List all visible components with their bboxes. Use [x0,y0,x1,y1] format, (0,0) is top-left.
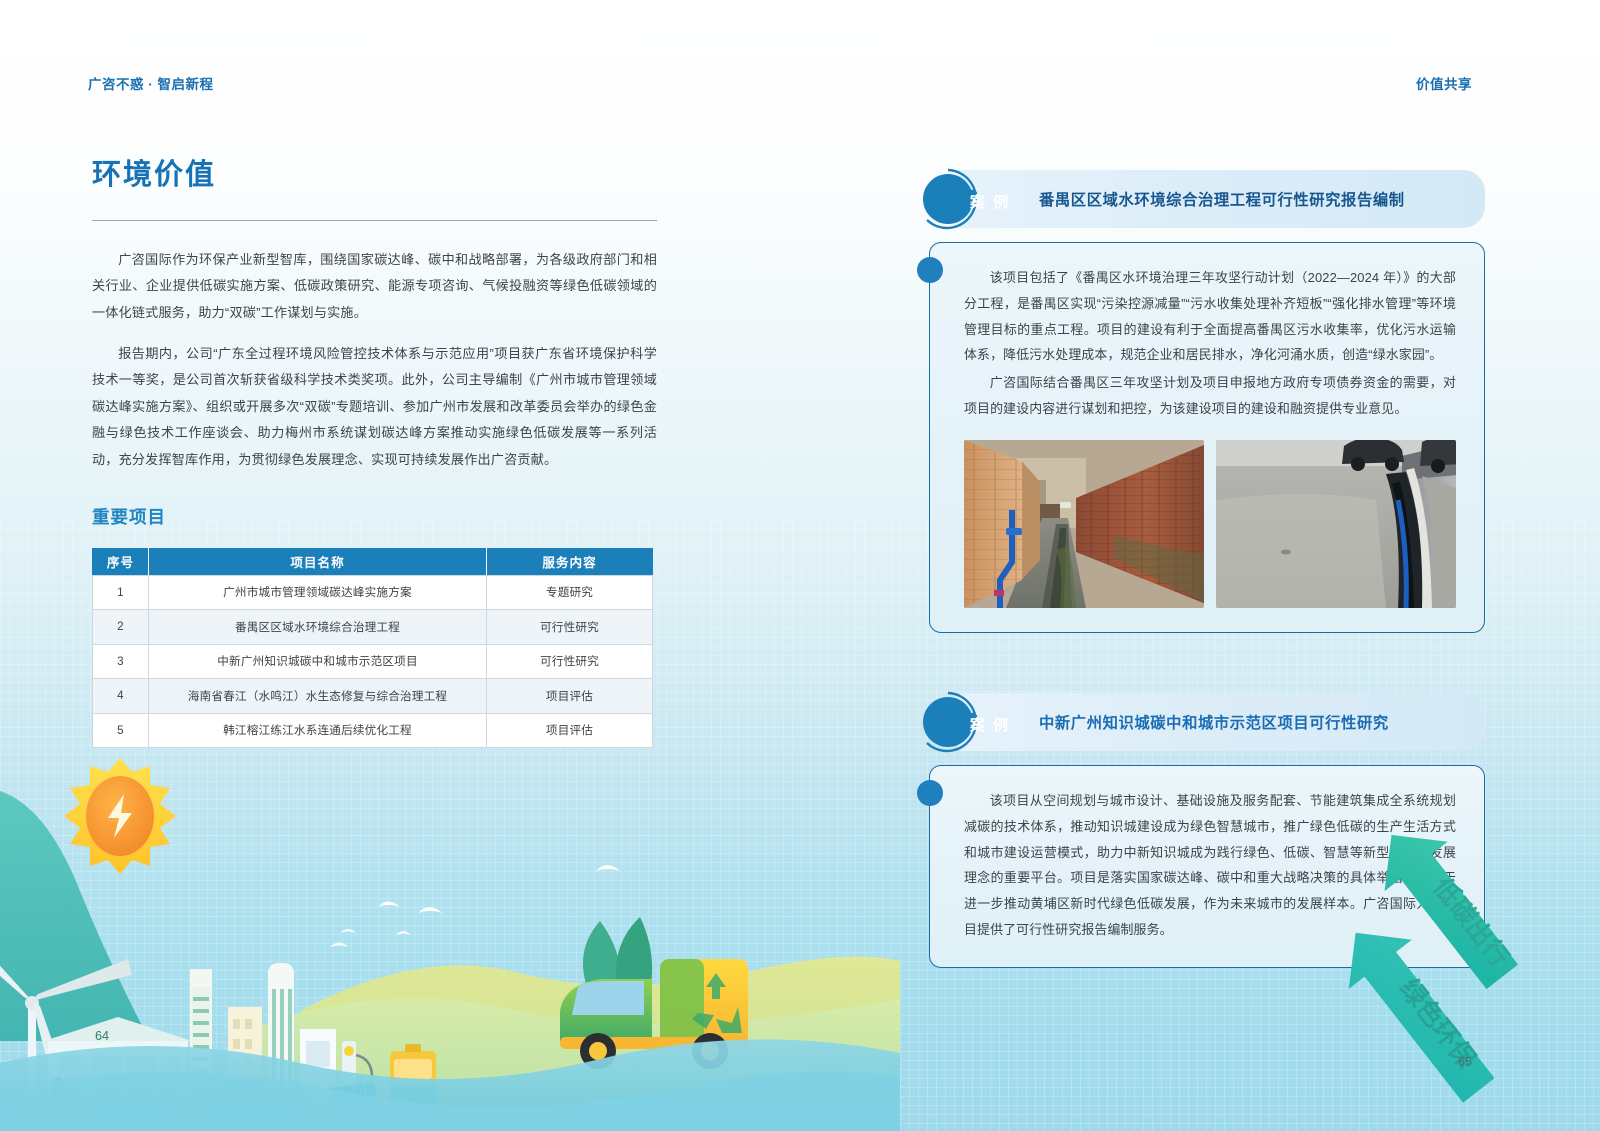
right-column: 案 例 番禺区区域水环境综合治理工程可行性研究报告编制 该项目包括了《番禺区水环… [915,170,1485,968]
case-2-paragraph-1: 该项目从空间规划与城市设计、基础设施及服务配套、节能建筑集成全系统规划减碳的技术… [964,788,1456,943]
case-study-1: 案 例 番禺区区域水环境综合治理工程可行性研究报告编制 该项目包括了《番禺区水环… [915,170,1485,633]
table-row: 2 番禺区区域水环境综合治理工程 可行性研究 [93,610,653,645]
case-badge-label: 案 例 [965,714,1015,735]
case-1-body: 该项目包括了《番禺区水环境治理三年攻坚行动计划（2022—2024 年）》的大部… [929,242,1485,633]
case-1-title: 番禺区区域水环境综合治理工程可行性研究报告编制 [1039,188,1405,210]
page-title: 环境价值 [92,160,657,192]
cell-name: 中新广州知识城碳中和城市示范区项目 [149,644,487,679]
important-projects-table: 序号 项目名称 服务内容 1 广州市城市管理领域碳达峰实施方案 专题研究 2 番… [92,548,653,749]
cell-name: 海南省春江（水鸣江）水生态修复与综合治理工程 [149,679,487,714]
case-1-paragraph-1: 该项目包括了《番禺区水环境治理三年攻坚行动计划（2022—2024 年）》的大部… [964,265,1456,368]
eco-city-illustration [0,711,900,1131]
table-col-header-svc: 服务内容 [487,548,653,575]
cell-no: 5 [93,713,149,748]
intro-paragraph-1: 广咨国际作为环保产业新型智库，围绕国家碳达峰、碳中和战略部署，为各级政府部门和相… [92,247,657,327]
table-col-header-no: 序号 [93,548,149,575]
cell-svc: 项目评估 [487,713,653,748]
table-header-row: 序号 项目名称 服务内容 [93,548,653,575]
page-number-left: 64 [95,1029,109,1043]
cell-name: 广州市城市管理领域碳达峰实施方案 [149,575,487,610]
cell-no: 3 [93,644,149,679]
cell-no: 4 [93,679,149,714]
cell-no: 2 [93,610,149,645]
table-col-header-name: 项目名称 [149,548,487,575]
street-drain-photo [1216,440,1456,608]
cell-svc: 可行性研究 [487,610,653,645]
case-2-title: 中新广州知识城碳中和城市示范区项目可行性研究 [1039,711,1389,733]
running-head-right: 价值共享 [1416,73,1472,93]
case-1-photo-row [964,440,1456,608]
table-row: 1 广州市城市管理领域碳达峰实施方案 专题研究 [93,575,653,610]
table-row: 5 韩江榕江练江水系连通后续优化工程 项目评估 [93,713,653,748]
case-2-header: 案 例 中新广州知识城碳中和城市示范区项目可行性研究 [957,693,1485,751]
cell-svc: 专题研究 [487,575,653,610]
cell-svc: 项目评估 [487,679,653,714]
cell-svc: 可行性研究 [487,644,653,679]
running-head-left: 广咨不惑 · 智启新程 [88,73,214,93]
case-study-2: 案 例 中新广州知识城碳中和城市示范区项目可行性研究 该项目从空间规划与城市设计… [915,693,1485,968]
case-1-paragraph-2: 广咨国际结合番禺区三年攻坚计划及项目申报地方政府专项债券资金的需要，对项目的建设… [964,370,1456,422]
alley-drainage-photo [964,440,1204,608]
table-row: 4 海南省春江（水鸣江）水生态修复与综合治理工程 项目评估 [93,679,653,714]
case-1-header: 案 例 番禺区区域水环境综合治理工程可行性研究报告编制 [957,170,1485,228]
cell-name: 番禺区区域水环境综合治理工程 [149,610,487,645]
intro-paragraph-2: 报告期内，公司“广东全过程环境风险管控技术体系与示范应用”项目获广东省环境保护科… [92,341,657,474]
table-row: 3 中新广州知识城碳中和城市示范区项目 可行性研究 [93,644,653,679]
case-badge-label: 案 例 [965,191,1015,212]
section-subhead: 重要项目 [92,504,657,529]
cell-name: 韩江榕江练江水系连通后续优化工程 [149,713,487,748]
title-divider [92,220,657,221]
page-spread: 广咨不惑 · 智启新程 价值共享 环境价值 广咨国际作为环保产业新型智库，围绕国… [0,0,1600,1131]
page-number-right: 65 [1458,1055,1472,1069]
cell-no: 1 [93,575,149,610]
left-column: 环境价值 广咨国际作为环保产业新型智库，围绕国家碳达峰、碳中和战略部署，为各级政… [92,160,657,748]
case-2-body: 该项目从空间规划与城市设计、基础设施及服务配套、节能建筑集成全系统规划减碳的技术… [929,765,1485,968]
